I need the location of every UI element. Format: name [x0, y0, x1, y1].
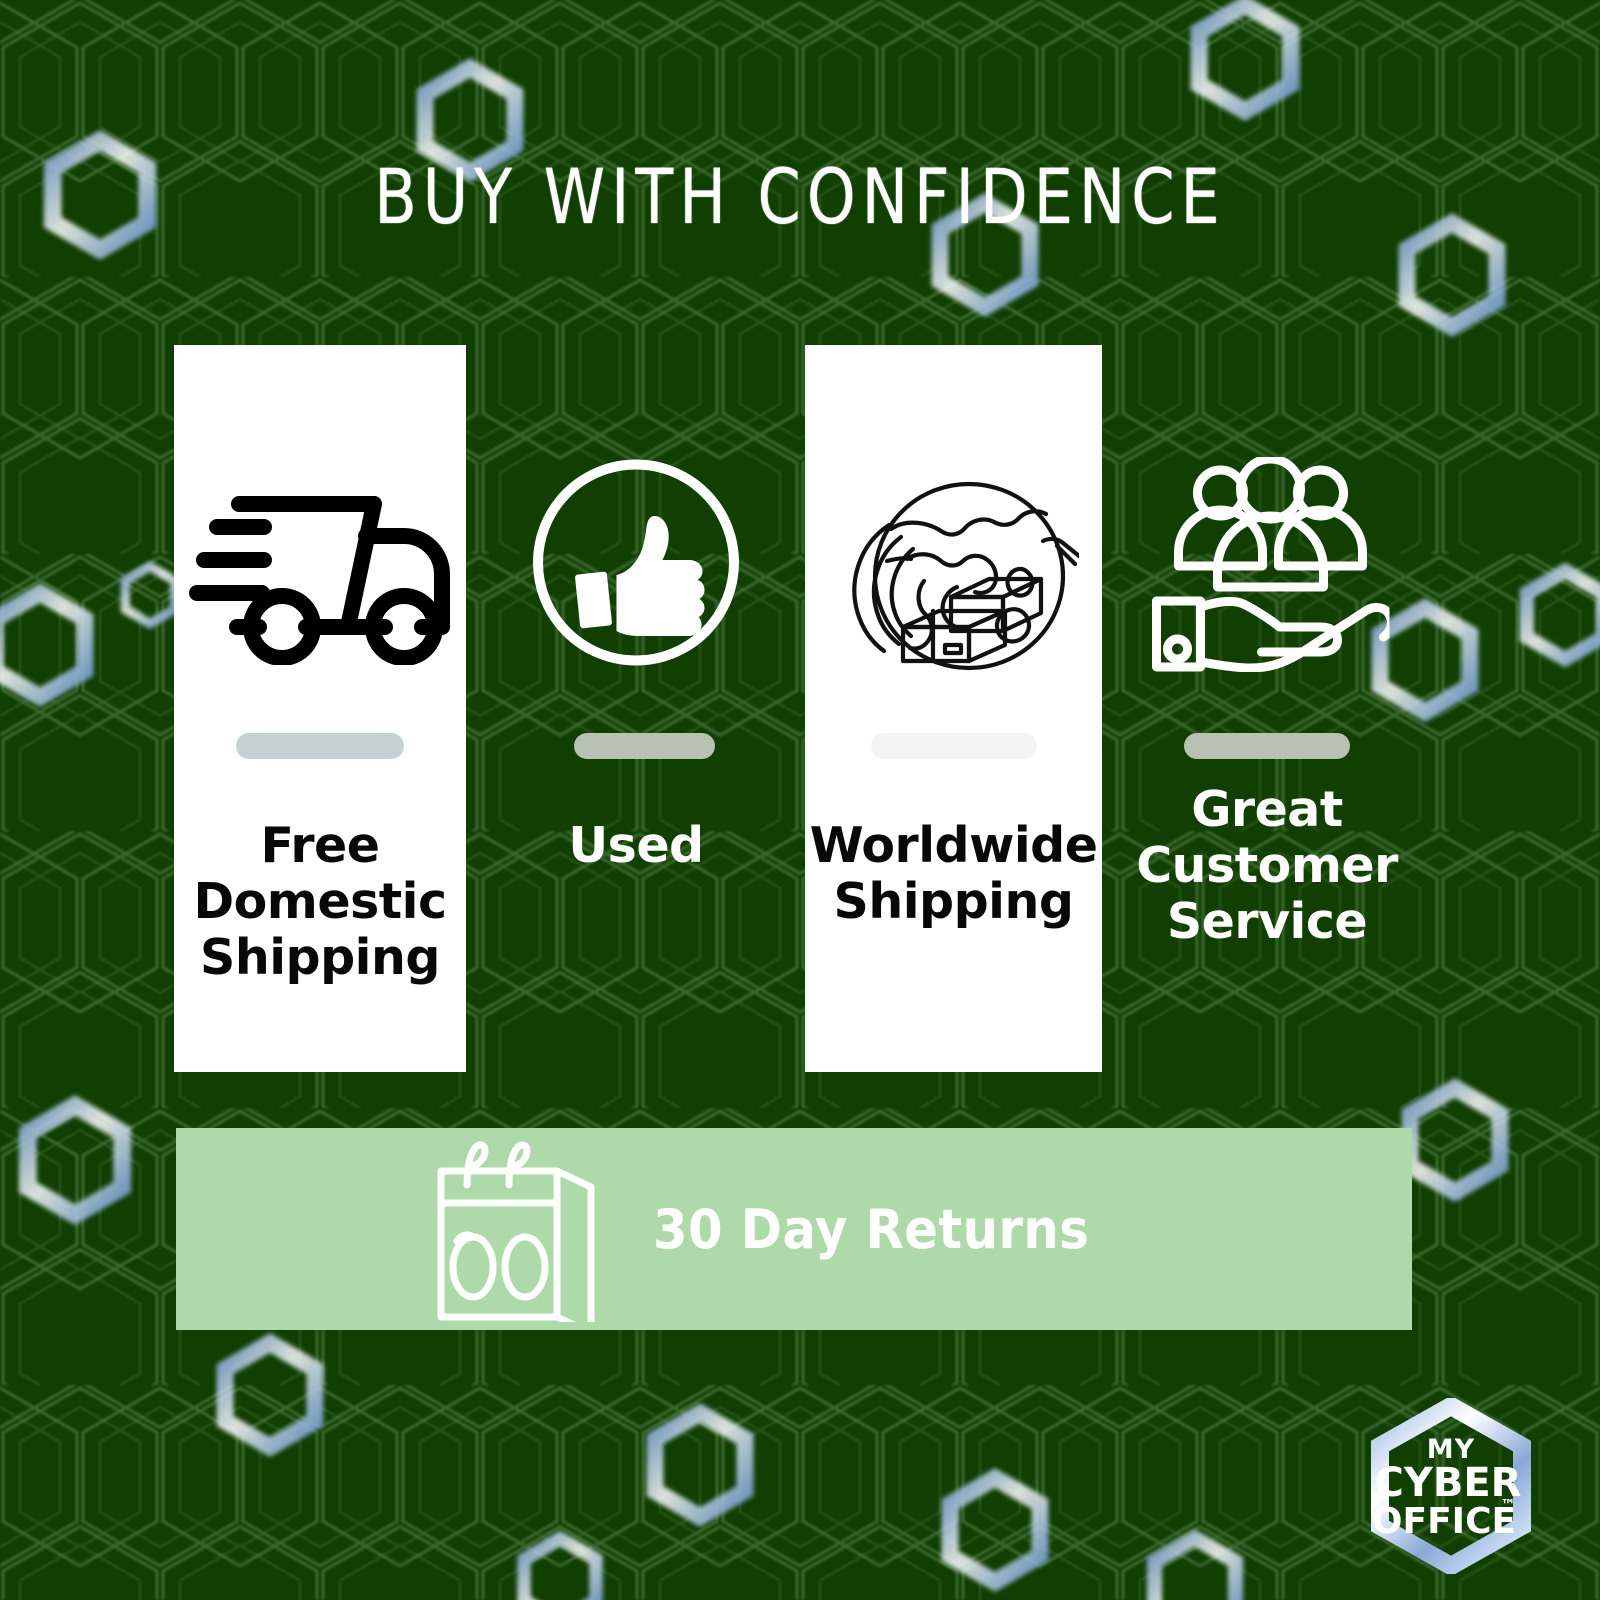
returns-banner-label: 30 Day Returns — [653, 1198, 1089, 1261]
delivery-truck-icon — [189, 470, 451, 665]
feature-card-label: Worldwide Shipping — [805, 818, 1102, 930]
feature-card-label: Great Customer Service — [1102, 782, 1432, 950]
promo-banner-canvas: BUY WITH CONFIDENCE — [0, 0, 1600, 1600]
feature-card-label: Used — [466, 818, 806, 874]
thumbs-up-circle-icon — [529, 455, 744, 670]
card-divider-pill — [236, 733, 404, 759]
calendar-30-icon — [421, 1137, 611, 1322]
feature-card-label: Free Domestic Shipping — [174, 818, 466, 986]
logo-trademark-symbol: ™ — [1501, 1496, 1516, 1514]
globe-parcel-icon — [829, 463, 1079, 688]
page-title: BUY WITH CONFIDENCE — [0, 152, 1600, 241]
feature-card-free-domestic-shipping: Free Domestic Shipping — [174, 345, 466, 1072]
hand-holding-people-icon — [1145, 457, 1390, 672]
feature-card-worldwide-shipping: Worldwide Shipping — [805, 345, 1102, 1072]
card-divider-pill — [1184, 733, 1350, 759]
returns-banner: 30 Day Returns — [176, 1128, 1412, 1330]
feature-card-used: Used — [466, 345, 806, 1072]
card-divider-pill — [574, 733, 715, 759]
logo-line-office: OFFICE — [1372, 1501, 1516, 1542]
brand-logo: MY CYBER OFFICE ™ — [1356, 1398, 1546, 1574]
feature-card-great-customer-service: Great Customer Service — [1102, 345, 1432, 1072]
card-divider-pill — [871, 733, 1037, 759]
logo-line-cyber: CYBER — [1375, 1460, 1522, 1506]
